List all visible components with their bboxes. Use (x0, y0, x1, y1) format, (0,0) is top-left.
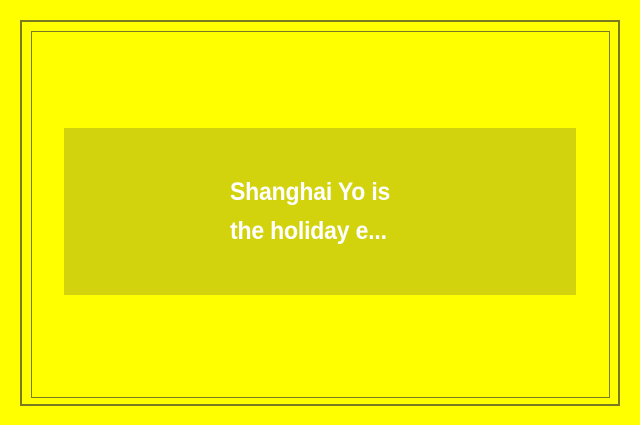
image-canvas: Shanghai Yo is the holiday e... (0, 0, 640, 425)
caption-line-2: the holiday e... (230, 212, 530, 251)
caption-panel: Shanghai Yo is the holiday e... (64, 128, 576, 295)
caption-line-1: Shanghai Yo is (230, 173, 530, 212)
